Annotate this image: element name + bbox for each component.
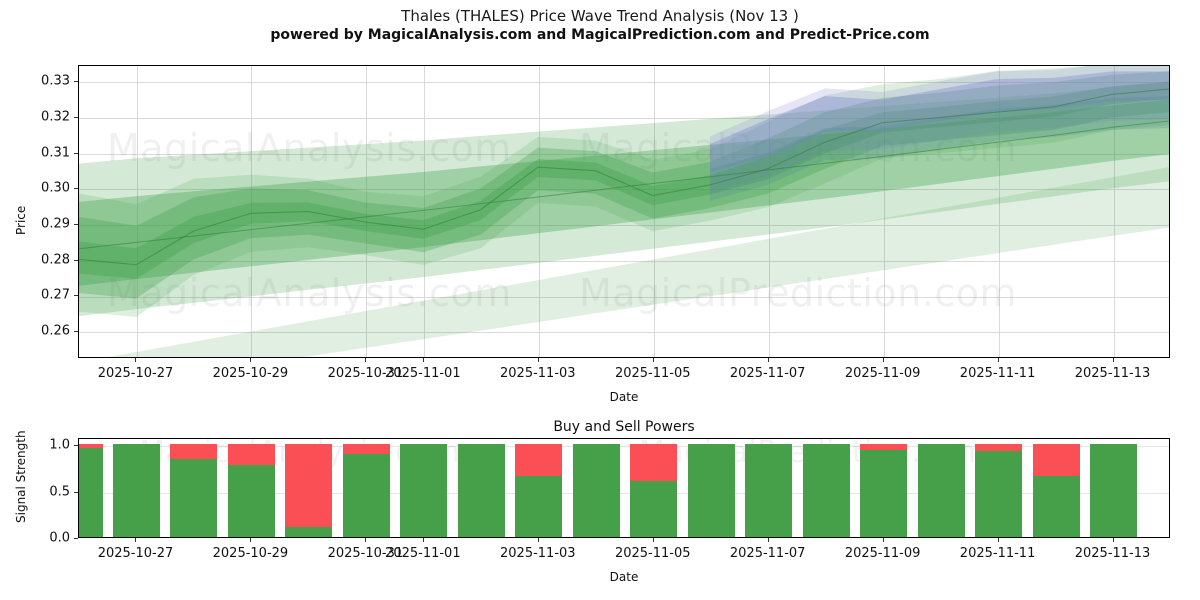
signal-bar-sell (228, 444, 275, 464)
signal-bar-buy (79, 448, 103, 537)
price-ytick-mark (74, 117, 78, 118)
signal-bar-sell (343, 444, 390, 453)
signal-bar-buy (458, 444, 505, 537)
signal-bar-buy (113, 444, 160, 537)
signal-xtick-mark (768, 538, 769, 542)
signal-xtick-mark (423, 538, 424, 542)
signal-xaxis-label: Date (610, 570, 639, 584)
price-plot-area: MagicalAnalysis.com MagicalPrediction.co… (79, 66, 1169, 357)
price-xtick-mark (365, 358, 366, 362)
signal-xtick-mark (883, 538, 884, 542)
price-ytick-label: 0.31 (41, 145, 70, 160)
signal-bar[interactable] (745, 439, 792, 537)
price-ytick-mark (74, 224, 78, 225)
signal-bar[interactable] (285, 439, 332, 537)
signal-bar[interactable] (688, 439, 735, 537)
signal-bar[interactable] (803, 439, 850, 537)
price-xtick-label: 2025-11-03 (500, 366, 576, 381)
price-xtick-label: 2025-10-29 (213, 366, 289, 381)
signal-bar-buy (860, 450, 907, 537)
signal-xtick-mark (365, 538, 366, 542)
signal-bar[interactable] (113, 439, 160, 537)
price-xtick-mark (538, 358, 539, 362)
signal-xtick-label: 2025-11-07 (730, 546, 806, 561)
signal-bar-buy (745, 444, 792, 537)
signal-xtick-label: 2025-11-13 (1075, 546, 1151, 561)
signal-bar-sell (79, 444, 103, 448)
signal-bar-sell (860, 444, 907, 450)
price-xtick-mark (250, 358, 251, 362)
signal-ytick-mark (74, 492, 78, 493)
price-ytick-label: 0.26 (41, 324, 70, 339)
signal-xtick-label: 2025-11-01 (385, 546, 461, 561)
price-ytick-mark (74, 260, 78, 261)
signal-xtick-label: 2025-10-29 (213, 546, 289, 561)
price-xtick-mark (883, 358, 884, 362)
signal-bar-buy (630, 481, 677, 538)
signal-bar-buy (285, 527, 332, 537)
price-xtick-label: 2025-11-13 (1075, 366, 1151, 381)
page-title: Thales (THALES) Price Wave Trend Analysi… (0, 6, 1200, 26)
price-xtick-label: 2025-11-07 (730, 366, 806, 381)
signal-bar-sell (515, 444, 562, 476)
signal-chart-title: Buy and Sell Powers (553, 419, 694, 435)
price-ytick-label: 0.27 (41, 288, 70, 303)
signal-bar[interactable] (918, 439, 965, 537)
price-ytick-mark (74, 81, 78, 82)
signal-bar-buy (1090, 444, 1137, 537)
price-xtick-label: 2025-11-09 (845, 366, 921, 381)
price-xtick-mark (1113, 358, 1114, 362)
price-ytick-mark (74, 295, 78, 296)
signal-xtick-label: 2025-10-27 (98, 546, 174, 561)
signal-bar-buy (573, 444, 620, 537)
signal-bar-sell (975, 444, 1022, 451)
price-chart-axes: MagicalAnalysis.com MagicalPrediction.co… (78, 65, 1170, 358)
price-ytick-label: 0.29 (41, 217, 70, 232)
signal-bar-buy (803, 444, 850, 537)
signal-bar-buy (228, 465, 275, 537)
signal-bar-sell (170, 444, 217, 459)
signal-xtick-mark (653, 538, 654, 542)
signal-bar[interactable] (630, 439, 677, 537)
signal-xtick-label: 2025-11-11 (960, 546, 1036, 561)
signal-bar[interactable] (515, 439, 562, 537)
signal-xtick-label: 2025-11-05 (615, 546, 691, 561)
signal-bar-sell (630, 444, 677, 480)
signal-bar[interactable] (975, 439, 1022, 537)
signal-bar-sell (1033, 444, 1080, 476)
signal-xtick-mark (538, 538, 539, 542)
signal-bar[interactable] (573, 439, 620, 537)
price-ytick-mark (74, 153, 78, 154)
signal-bar[interactable] (458, 439, 505, 537)
signal-bar[interactable] (343, 439, 390, 537)
signal-ytick-label: 0.0 (49, 531, 70, 546)
price-xtick-label: 2025-11-01 (385, 366, 461, 381)
signal-bar-sell (285, 444, 332, 526)
signal-bar[interactable] (1090, 439, 1137, 537)
price-xtick-mark (998, 358, 999, 362)
price-xtick-label: 2025-10-27 (98, 366, 174, 381)
price-band-layer (79, 66, 1169, 357)
signal-xtick-mark (1113, 538, 1114, 542)
signal-yaxis-label: Signal Strength (14, 430, 28, 523)
signal-xtick-label: 2025-11-03 (500, 546, 576, 561)
signal-bar-buy (1033, 476, 1080, 537)
price-xtick-label: 2025-11-05 (615, 366, 691, 381)
signal-bar[interactable] (79, 439, 103, 537)
signal-bar[interactable] (228, 439, 275, 537)
price-ytick-label: 0.33 (41, 74, 70, 89)
signal-bar[interactable] (860, 439, 907, 537)
signal-xtick-mark (135, 538, 136, 542)
price-xtick-label: 2025-11-11 (960, 366, 1036, 381)
signal-ytick-mark (74, 445, 78, 446)
signal-bar-buy (918, 444, 965, 537)
signal-bar-buy (400, 444, 447, 537)
price-xtick-mark (653, 358, 654, 362)
signal-plot-area: MagicalAnalysis.com MagicalPrediction.co… (79, 439, 1169, 537)
signal-bar-buy (975, 451, 1022, 537)
price-xaxis-label: Date (610, 390, 639, 404)
price-ytick-mark (74, 188, 78, 189)
signal-bar[interactable] (170, 439, 217, 537)
signal-bar[interactable] (400, 439, 447, 537)
page-subtitle: powered by MagicalAnalysis.com and Magic… (0, 26, 1200, 45)
chart-page: Thales (THALES) Price Wave Trend Analysi… (0, 0, 1200, 600)
signal-ytick-label: 0.5 (49, 484, 70, 499)
signal-bar[interactable] (1033, 439, 1080, 537)
signal-ytick-mark (74, 538, 78, 539)
signal-ytick-label: 1.0 (49, 438, 70, 453)
title-block: Thales (THALES) Price Wave Trend Analysi… (0, 6, 1200, 45)
price-xtick-mark (135, 358, 136, 362)
price-ytick-mark (74, 331, 78, 332)
signal-chart-axes: MagicalAnalysis.com MagicalPrediction.co… (78, 438, 1170, 538)
price-ytick-label: 0.30 (41, 181, 70, 196)
price-xtick-mark (423, 358, 424, 362)
signal-bar-buy (343, 454, 390, 537)
signal-bar-buy (515, 476, 562, 537)
price-yaxis-label: Price (14, 206, 28, 235)
price-xtick-mark (768, 358, 769, 362)
signal-xtick-mark (998, 538, 999, 542)
price-ytick-label: 0.28 (41, 252, 70, 267)
signal-xtick-mark (250, 538, 251, 542)
price-ytick-label: 0.32 (41, 109, 70, 124)
signal-xtick-label: 2025-11-09 (845, 546, 921, 561)
signal-bar-buy (170, 459, 217, 537)
signal-bar-buy (688, 444, 735, 537)
